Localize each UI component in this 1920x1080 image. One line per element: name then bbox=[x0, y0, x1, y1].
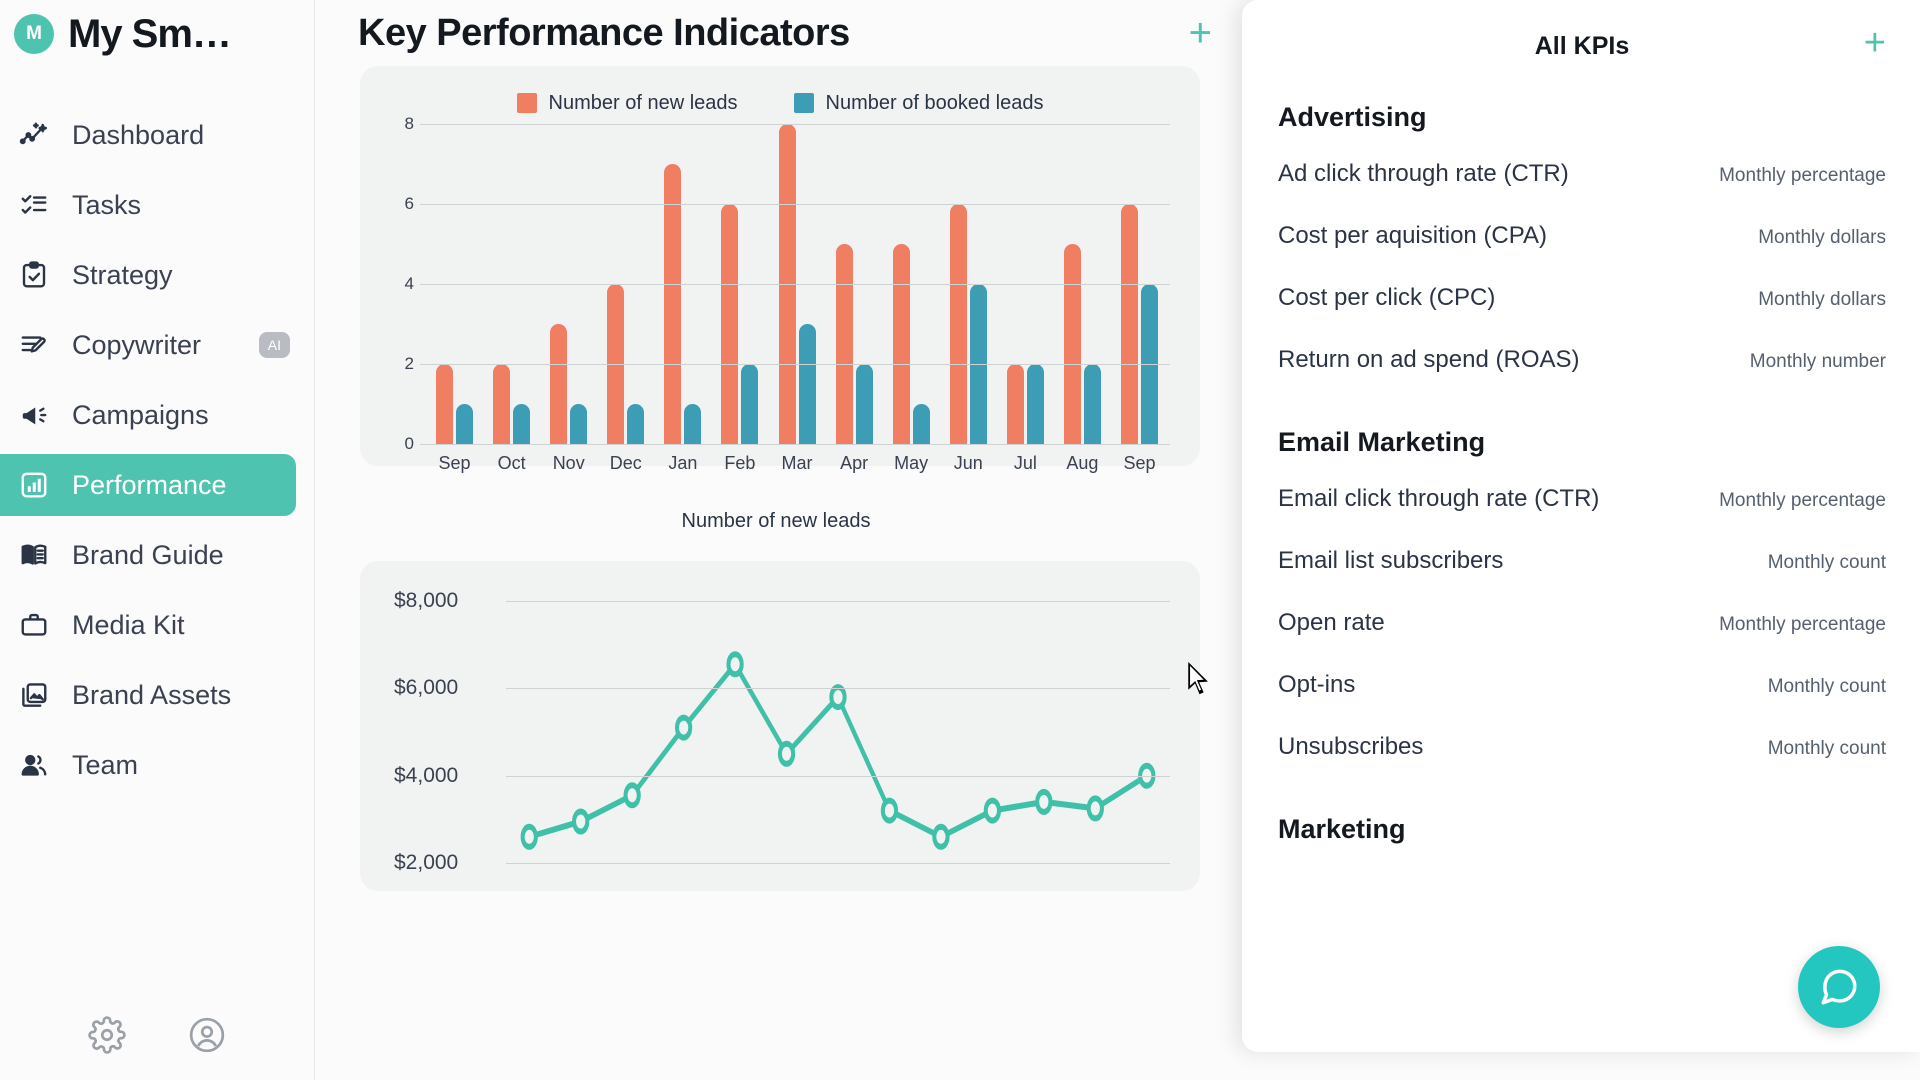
bar bbox=[950, 204, 967, 444]
sidebar-item-label: Performance bbox=[72, 470, 227, 501]
bar bbox=[741, 364, 758, 444]
line-chart-card: $2,000$4,000$6,000$8,000 bbox=[360, 561, 1200, 891]
sidebar-item-label: Brand Guide bbox=[72, 540, 224, 571]
legend-item: Number of new leads bbox=[517, 92, 738, 115]
brand-title: My Sm… bbox=[68, 12, 231, 57]
pencil-lines-icon bbox=[18, 329, 50, 361]
y-axis-tick: $4,000 bbox=[394, 764, 498, 788]
sidebar-item-label: Media Kit bbox=[72, 610, 185, 641]
kpi-type: Monthly percentage bbox=[1719, 165, 1886, 187]
bar bbox=[570, 404, 587, 444]
kpi-group-title: Email Marketing bbox=[1278, 427, 1886, 458]
sidebar-nav: DashboardTasksStrategyCopywriterAICampai… bbox=[0, 100, 314, 800]
sidebar-item-media-kit[interactable]: Media Kit bbox=[0, 594, 296, 656]
legend-swatch bbox=[517, 93, 537, 113]
sidebar-item-label: Dashboard bbox=[72, 120, 204, 151]
line-marker bbox=[883, 801, 896, 821]
sidebar-item-team[interactable]: Team bbox=[0, 734, 296, 796]
kpi-groups: AdvertisingAd click through rate (CTR)Mo… bbox=[1278, 102, 1886, 845]
bar bbox=[1084, 364, 1101, 444]
bar bbox=[664, 164, 681, 444]
bar bbox=[1027, 364, 1044, 444]
kpi-group-title: Marketing bbox=[1278, 814, 1886, 845]
main-header: Key Performance Indicators + bbox=[316, 0, 1236, 66]
open-book-icon bbox=[18, 539, 50, 571]
kpi-name: Cost per aquisition (CPA) bbox=[1278, 222, 1547, 250]
kpi-type: Monthly dollars bbox=[1758, 227, 1886, 249]
people-icon bbox=[18, 749, 50, 781]
y-axis-tick: 4 bbox=[386, 274, 414, 294]
sidebar: M My Sm… DashboardTasksStrategyCopywrite… bbox=[0, 0, 315, 1080]
sidebar-item-brand-assets[interactable]: Brand Assets bbox=[0, 664, 296, 726]
sidebar-item-label: Tasks bbox=[72, 190, 141, 221]
sidebar-item-label: Campaigns bbox=[72, 400, 209, 431]
kpi-type: Monthly count bbox=[1768, 676, 1886, 698]
gridline bbox=[420, 444, 1170, 445]
kpi-type: Monthly number bbox=[1750, 351, 1886, 373]
kpi-type: Monthly dollars bbox=[1758, 289, 1886, 311]
y-axis-tick: $6,000 bbox=[394, 676, 498, 700]
bar bbox=[493, 364, 510, 444]
bar bbox=[684, 404, 701, 444]
line-marker bbox=[626, 785, 639, 805]
kpi-row[interactable]: Ad click through rate (CTR)Monthly perce… bbox=[1278, 143, 1886, 205]
x-axis-label: Oct bbox=[483, 453, 540, 474]
y-axis-tick: 0 bbox=[386, 434, 414, 454]
analytics-sparkle-icon bbox=[18, 119, 50, 151]
bar-chart-box-icon bbox=[18, 469, 50, 501]
y-axis-tick: 2 bbox=[386, 354, 414, 374]
x-axis-label: Apr bbox=[826, 453, 883, 474]
account-circle-icon[interactable] bbox=[188, 1016, 226, 1054]
bar-chart-caption: Number of new leads bbox=[316, 510, 1236, 533]
sidebar-footer bbox=[0, 1016, 314, 1054]
sidebar-item-strategy[interactable]: Strategy bbox=[0, 244, 296, 306]
y-axis-tick: $8,000 bbox=[394, 589, 498, 613]
gridline bbox=[420, 364, 1170, 365]
y-axis-tick: 6 bbox=[386, 194, 414, 214]
kpi-group-title: Advertising bbox=[1278, 102, 1886, 133]
gridline bbox=[506, 776, 1170, 777]
line-marker bbox=[574, 812, 587, 832]
bar bbox=[436, 364, 453, 444]
add-kpi-panel-button[interactable]: + bbox=[1864, 24, 1886, 62]
kpi-name: Email list subscribers bbox=[1278, 547, 1503, 575]
gridline bbox=[506, 688, 1170, 689]
kpi-name: Unsubscribes bbox=[1278, 733, 1423, 761]
line-marker bbox=[728, 654, 741, 674]
sidebar-item-dashboard[interactable]: Dashboard bbox=[0, 104, 296, 166]
bar-chart-plot: SepOctNovDecJanFebMarAprMayJunJulAugSep … bbox=[386, 124, 1174, 444]
kpi-name: Ad click through rate (CTR) bbox=[1278, 160, 1569, 188]
bar-chart-legend: Number of new leadsNumber of booked lead… bbox=[386, 88, 1174, 118]
sidebar-item-performance[interactable]: Performance bbox=[0, 454, 296, 516]
kpi-name: Open rate bbox=[1278, 609, 1385, 637]
bar bbox=[513, 404, 530, 444]
line-marker bbox=[677, 718, 690, 738]
line-chart-plot: $2,000$4,000$6,000$8,000 bbox=[386, 587, 1174, 877]
sidebar-item-label: Brand Assets bbox=[72, 680, 231, 711]
x-axis-label: Jun bbox=[940, 453, 997, 474]
x-axis-label: Dec bbox=[597, 453, 654, 474]
all-kpis-panel: All KPIs + AdvertisingAd click through r… bbox=[1242, 0, 1920, 1052]
bar bbox=[1007, 364, 1024, 444]
kpi-row[interactable]: UnsubscribesMonthly count bbox=[1278, 716, 1886, 778]
x-axis-label: Sep bbox=[426, 453, 483, 474]
line-marker bbox=[831, 687, 844, 707]
y-axis-tick: 8 bbox=[386, 114, 414, 134]
y-axis-tick: $2,000 bbox=[394, 851, 498, 875]
kpi-name: Cost per click (CPC) bbox=[1278, 284, 1495, 312]
images-stack-icon bbox=[18, 679, 50, 711]
bar bbox=[456, 404, 473, 444]
x-axis-label: May bbox=[883, 453, 940, 474]
bar bbox=[893, 244, 910, 444]
all-kpis-header: All KPIs + bbox=[1278, 26, 1886, 66]
line-marker bbox=[934, 827, 947, 847]
kpi-name: Opt-ins bbox=[1278, 671, 1355, 699]
chat-bubble-button[interactable] bbox=[1798, 946, 1880, 1028]
gridline bbox=[506, 601, 1170, 602]
sidebar-item-campaigns[interactable]: Campaigns bbox=[0, 384, 296, 446]
x-axis-label: Nov bbox=[540, 453, 597, 474]
x-axis-label: Jul bbox=[997, 453, 1054, 474]
legend-label: Number of new leads bbox=[549, 92, 738, 115]
bar bbox=[836, 244, 853, 444]
bar bbox=[1064, 244, 1081, 444]
page-title: Key Performance Indicators bbox=[358, 12, 850, 55]
bar bbox=[856, 364, 873, 444]
x-axis-label: Jan bbox=[654, 453, 711, 474]
kpi-row[interactable]: Cost per aquisition (CPA)Monthly dollars bbox=[1278, 205, 1886, 267]
bar bbox=[913, 404, 930, 444]
bar bbox=[721, 204, 738, 444]
gridline bbox=[420, 204, 1170, 205]
x-axis-label: Feb bbox=[711, 453, 768, 474]
line-marker bbox=[1037, 792, 1050, 812]
kpi-type: Monthly count bbox=[1768, 552, 1886, 574]
x-axis-label: Mar bbox=[768, 453, 825, 474]
clipboard-check-icon bbox=[18, 259, 50, 291]
all-kpis-title: All KPIs bbox=[1535, 32, 1629, 61]
sidebar-item-badge: AI bbox=[259, 332, 290, 358]
sidebar-item-brand-guide[interactable]: Brand Guide bbox=[0, 524, 296, 586]
add-kpi-button[interactable]: + bbox=[1189, 13, 1212, 53]
gridline bbox=[506, 863, 1170, 864]
line-marker bbox=[523, 827, 536, 847]
legend-swatch bbox=[794, 93, 814, 113]
main-content: Key Performance Indicators + Number of n… bbox=[316, 0, 1236, 1080]
kpi-row[interactable]: Open rateMonthly percentage bbox=[1278, 592, 1886, 654]
line-marker bbox=[986, 801, 999, 821]
sidebar-item-label: Copywriter bbox=[72, 330, 201, 361]
legend-label: Number of booked leads bbox=[826, 92, 1044, 115]
bar bbox=[799, 324, 816, 444]
sidebar-item-copywriter[interactable]: CopywriterAI bbox=[0, 314, 296, 376]
kpi-row[interactable]: Email click through rate (CTR)Monthly pe… bbox=[1278, 468, 1886, 530]
kpi-type: Monthly count bbox=[1768, 738, 1886, 760]
bar bbox=[627, 404, 644, 444]
line-marker bbox=[1089, 798, 1102, 818]
kpi-row[interactable]: Email list subscribersMonthly count bbox=[1278, 530, 1886, 592]
gear-icon[interactable] bbox=[88, 1016, 126, 1054]
chat-bubble-icon bbox=[1818, 966, 1860, 1008]
kpi-row[interactable]: Opt-insMonthly count bbox=[1278, 654, 1886, 716]
bar-chart-x-labels: SepOctNovDecJanFebMarAprMayJunJulAugSep bbox=[426, 453, 1168, 474]
gridline bbox=[420, 124, 1170, 125]
kpi-row[interactable]: Return on ad spend (ROAS)Monthly number bbox=[1278, 329, 1886, 391]
bar bbox=[550, 324, 567, 444]
kpi-type: Monthly percentage bbox=[1719, 490, 1886, 512]
kpi-name: Return on ad spend (ROAS) bbox=[1278, 346, 1580, 374]
briefcase-icon bbox=[18, 609, 50, 641]
kpi-name: Email click through rate (CTR) bbox=[1278, 485, 1599, 513]
megaphone-icon bbox=[18, 399, 50, 431]
bar-chart-card: Number of new leadsNumber of booked lead… bbox=[360, 66, 1200, 466]
gridline bbox=[420, 284, 1170, 285]
sidebar-item-tasks[interactable]: Tasks bbox=[0, 174, 296, 236]
kpi-type: Monthly percentage bbox=[1719, 614, 1886, 636]
line-marker bbox=[780, 744, 793, 764]
x-axis-label: Aug bbox=[1054, 453, 1111, 474]
kpi-row[interactable]: Cost per click (CPC)Monthly dollars bbox=[1278, 267, 1886, 329]
sidebar-item-label: Team bbox=[72, 750, 138, 781]
legend-item: Number of booked leads bbox=[794, 92, 1044, 115]
line-chart-svg bbox=[506, 587, 1170, 877]
checklist-icon bbox=[18, 189, 50, 221]
sidebar-item-label: Strategy bbox=[72, 260, 173, 291]
bar bbox=[1121, 204, 1138, 444]
brand-badge: M bbox=[14, 14, 54, 54]
brand-logo[interactable]: M My Sm… bbox=[0, 0, 314, 64]
x-axis-label: Sep bbox=[1111, 453, 1168, 474]
